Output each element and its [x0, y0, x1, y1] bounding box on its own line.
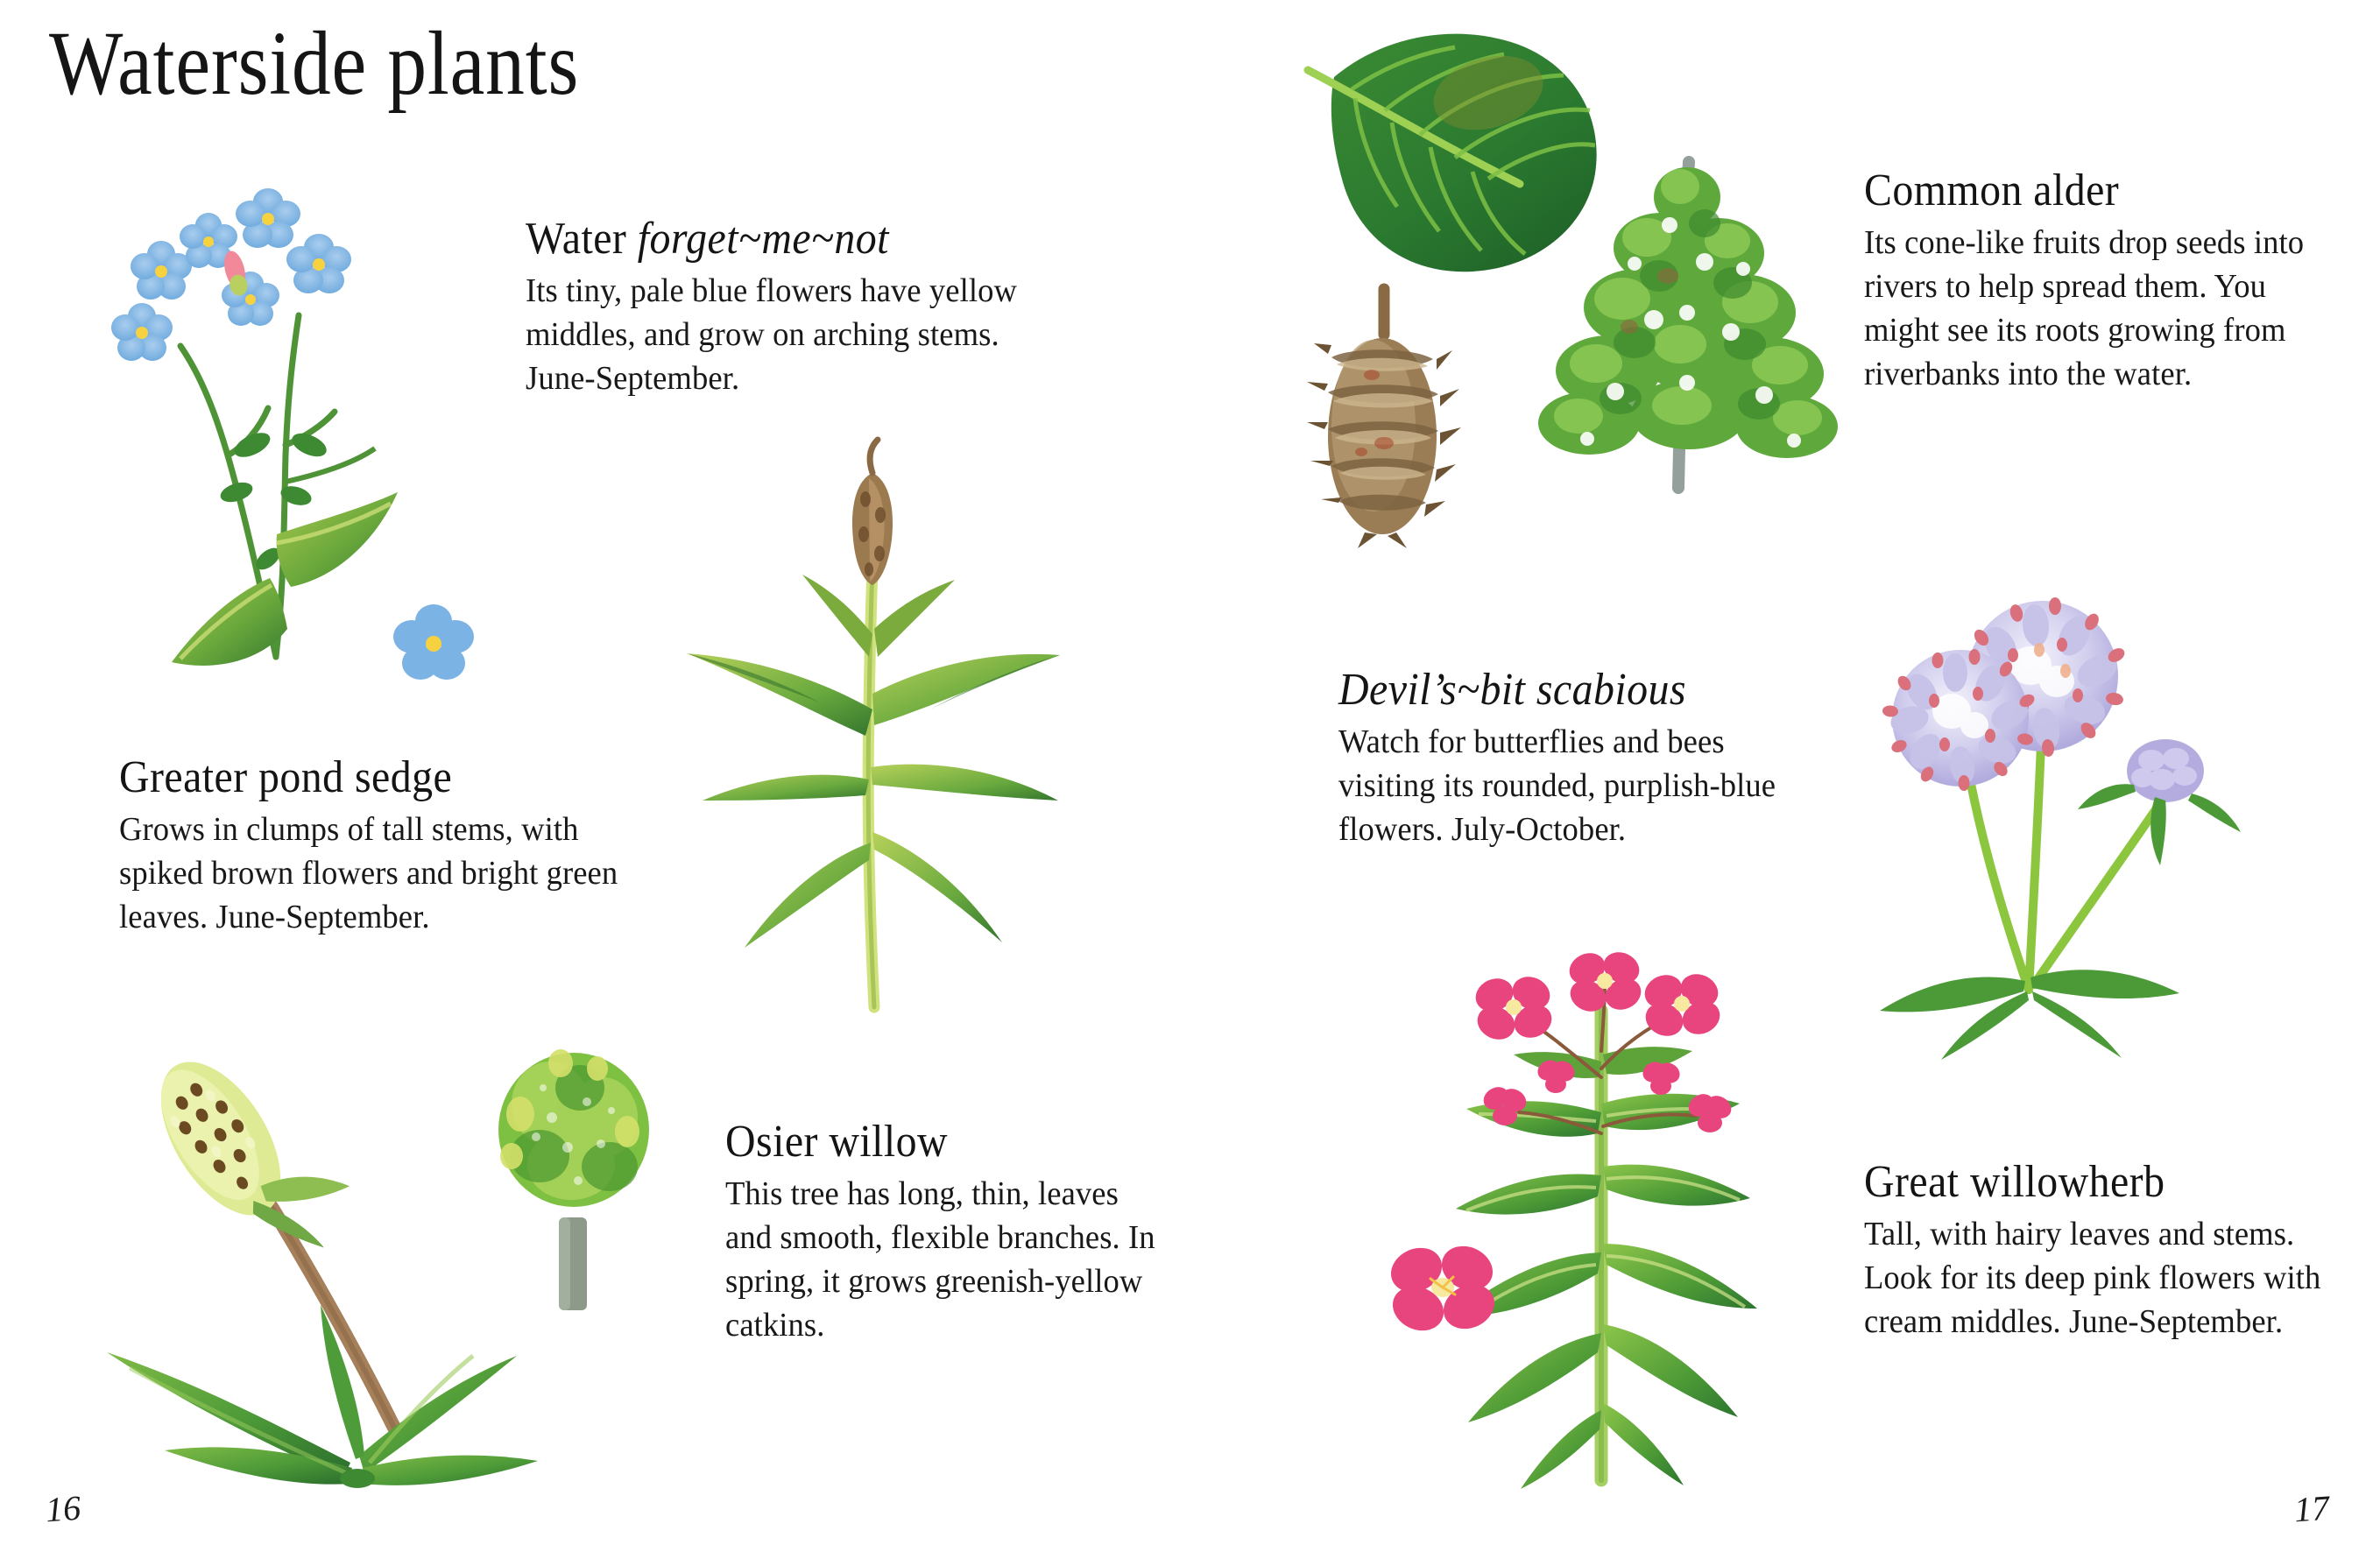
- heading-plain-part: Great willowherb: [1864, 1157, 2165, 1207]
- entry-water-forget-me-not: Water forget~me~not Its tiny, pale blue …: [526, 215, 1095, 400]
- devils-bit-scabious-illustration: [1848, 455, 2278, 1016]
- entry-heading-greater-pond-sedge: Greater pond sedge: [119, 753, 618, 802]
- page-number-right: 17: [2292, 1487, 2330, 1531]
- entry-heading-common-alder: Common alder: [1864, 166, 2323, 215]
- entry-heading-water-forget-me-not: Water forget~me~not: [526, 215, 1049, 264]
- osier-willow-illustration: [456, 1033, 692, 1323]
- heading-plain-part: Osier willow: [725, 1117, 948, 1167]
- heading-plain-part: Common alder: [1864, 166, 2119, 215]
- entry-body-devils-bit-scabious: Watch for butterflies and bees visiting …: [1338, 720, 1821, 851]
- entry-greater-pond-sedge: Greater pond sedge Grows in clumps of ta…: [119, 753, 662, 939]
- heading-italic-part: Devil’s~bit scabious: [1338, 665, 1686, 715]
- entry-body-common-alder: Its cone-like fruits drop seeds into riv…: [1864, 221, 2339, 396]
- great-willowherb-illustration: [1402, 946, 1813, 1489]
- entry-heading-devils-bit-scabious: Devil’s~bit scabious: [1338, 666, 1806, 715]
- sedge-stems-illustration: [648, 447, 1104, 1025]
- forget-me-not-single-flower-illustration: [385, 596, 482, 692]
- book-spread: Waterside plants: [0, 0, 2380, 1552]
- entry-devils-bit-scabious: Devil’s~bit scabious Watch for butterfli…: [1338, 666, 1847, 851]
- entry-body-great-willowherb: Tall, with hairy leaves and stems. Look …: [1864, 1212, 2339, 1344]
- heading-plain-part: Water: [526, 214, 638, 264]
- entry-heading-osier-willow: Osier willow: [725, 1118, 1144, 1167]
- alder-tree-illustration: [1524, 145, 1848, 495]
- willowherb-single-flower-illustration: [1377, 1226, 1508, 1349]
- entry-body-osier-willow: This tree has long, thin, leaves and smo…: [725, 1172, 1158, 1347]
- alder-cone-illustration: [1296, 289, 1489, 552]
- entry-great-willowherb: Great willowherb Tall, with hairy leaves…: [1864, 1158, 2363, 1344]
- entry-body-water-forget-me-not: Its tiny, pale blue flowers have yellow …: [526, 269, 1067, 400]
- entry-heading-great-willowherb: Great willowherb: [1864, 1158, 2323, 1207]
- page-number-left: 16: [44, 1487, 81, 1531]
- heading-plain-part: Greater pond sedge: [119, 752, 452, 802]
- entry-osier-willow: Osier willow This tree has long, thin, l…: [725, 1118, 1181, 1347]
- page-title: Waterside plants: [49, 16, 579, 111]
- heading-italic-part: forget~me~not: [638, 214, 889, 264]
- entry-common-alder: Common alder Its cone-like fruits drop s…: [1864, 166, 2363, 396]
- entry-body-greater-pond-sedge: Grows in clumps of tall stems, with spik…: [119, 808, 635, 939]
